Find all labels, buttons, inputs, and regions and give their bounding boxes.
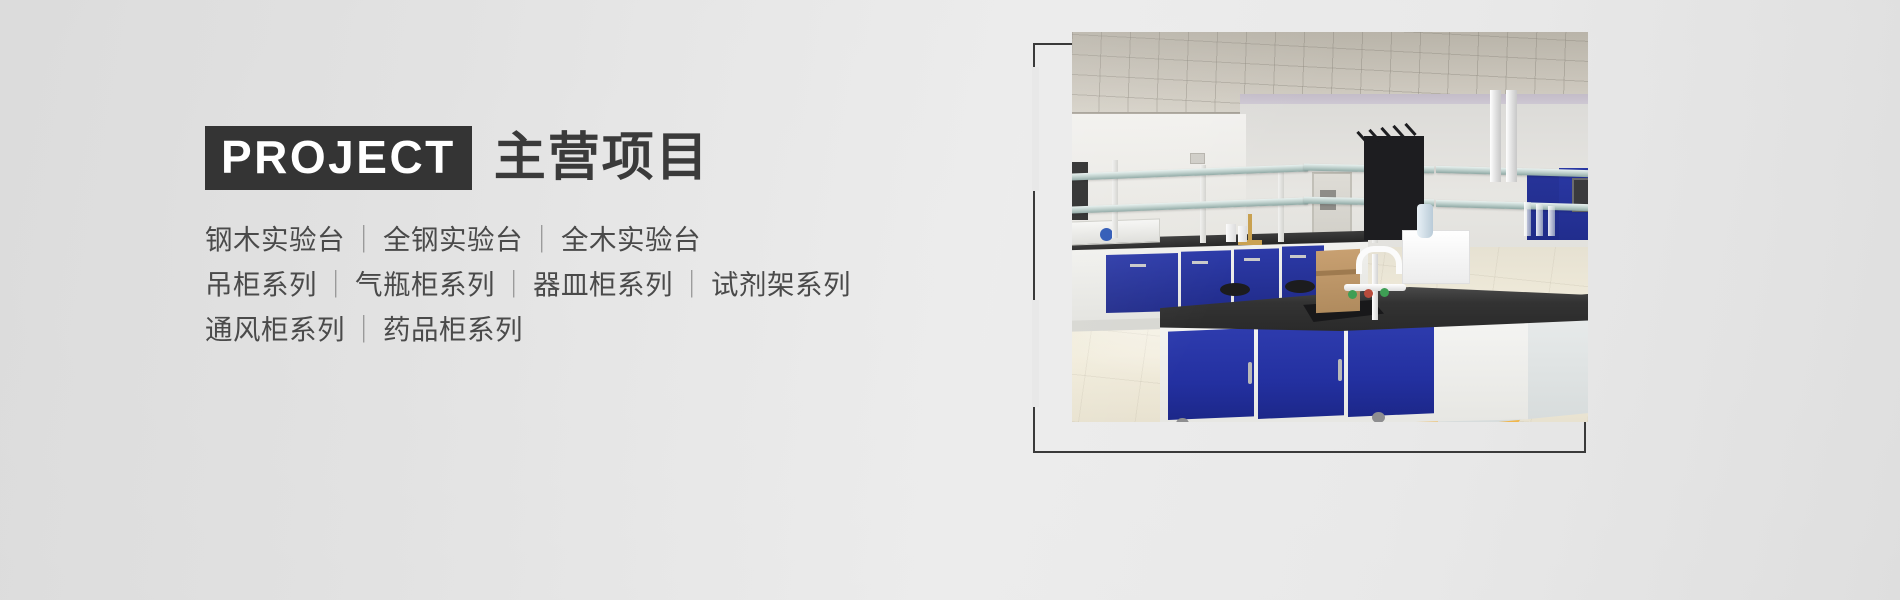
fume-column: [1490, 90, 1501, 182]
fume-column: [1506, 90, 1517, 182]
category-item[interactable]: 全木实验台: [561, 224, 701, 255]
cabinet-handle: [1130, 264, 1146, 267]
category-separator: ｜: [495, 269, 533, 300]
reagent-bottle: [1238, 226, 1247, 242]
lab-stool: [1285, 280, 1315, 293]
bench-caster: [1176, 418, 1189, 422]
project-banner: PROJECT 主营项目 钢木实验台｜全钢实验台｜全木实验台 吊柜系列｜气瓶柜系…: [0, 0, 1900, 600]
valve-knob-green: [1380, 288, 1389, 297]
reagent-bottle: [1226, 224, 1236, 242]
banner-photo-area: [1033, 32, 1588, 454]
category-item[interactable]: 通风柜系列: [205, 314, 345, 345]
back-bench-door: [1181, 250, 1231, 309]
wall-socket: [1190, 153, 1205, 164]
category-item[interactable]: 气瓶柜系列: [355, 269, 495, 300]
drying-rack: [1364, 136, 1424, 240]
white-equipment-box: [1402, 230, 1470, 284]
category-separator: ｜: [673, 269, 711, 300]
category-item[interactable]: 全钢实验台: [383, 224, 523, 255]
page-title: 主营项目: [494, 132, 710, 184]
category-item[interactable]: 钢木实验台: [205, 224, 345, 255]
category-separator: ｜: [317, 269, 355, 300]
category-item[interactable]: 试剂架系列: [711, 269, 851, 300]
category-item[interactable]: 器皿柜系列: [533, 269, 673, 300]
laboratory-photo[interactable]: [1072, 32, 1588, 422]
lab-scene: [1072, 32, 1588, 422]
cabinet-handle: [1290, 255, 1306, 258]
faucet-arc: [1356, 246, 1402, 274]
island-cabinet-door: [1258, 325, 1344, 419]
banner-heading-row: PROJECT 主营项目: [205, 126, 851, 190]
valve-knob-green: [1348, 290, 1357, 299]
category-line-3: 通风柜系列｜药品柜系列: [205, 307, 851, 352]
category-list: 钢木实验台｜全钢实验台｜全木实验台 吊柜系列｜气瓶柜系列｜器皿柜系列｜试剂架系列…: [205, 217, 851, 352]
cabinet-handle: [1192, 261, 1208, 264]
glassware: [1548, 206, 1555, 236]
cabinet-handle: [1244, 258, 1260, 261]
lab-stool: [1220, 283, 1250, 296]
frame-gap-top: [1032, 67, 1039, 191]
back-bench-door: [1106, 253, 1178, 313]
glassware: [1524, 202, 1531, 236]
category-line-2: 吊柜系列｜气瓶柜系列｜器皿柜系列｜试剂架系列: [205, 262, 851, 307]
banner-text-block: PROJECT 主营项目 钢木实验台｜全钢实验台｜全木实验台 吊柜系列｜气瓶柜系…: [205, 126, 851, 352]
category-item[interactable]: 吊柜系列: [205, 269, 317, 300]
category-separator: ｜: [345, 314, 383, 345]
frame-gap-bottom: [1032, 300, 1039, 407]
project-badge-label: PROJECT: [205, 126, 472, 190]
category-line-1: 钢木实验台｜全钢实验台｜全木实验台: [205, 217, 851, 262]
wash-bottle: [1417, 204, 1433, 238]
cabinet-handle: [1248, 362, 1252, 384]
category-separator: ｜: [523, 224, 561, 255]
island-cabinet-door: [1348, 322, 1434, 417]
glassware: [1536, 204, 1543, 236]
category-separator: ｜: [345, 224, 383, 255]
category-item[interactable]: 药品柜系列: [383, 314, 523, 345]
valve-knob-red: [1364, 289, 1373, 298]
cabinet-handle: [1338, 359, 1342, 381]
cardboard-carton: [1316, 249, 1360, 313]
island-cabinet-door: [1168, 328, 1254, 420]
bench-caster: [1372, 412, 1385, 422]
